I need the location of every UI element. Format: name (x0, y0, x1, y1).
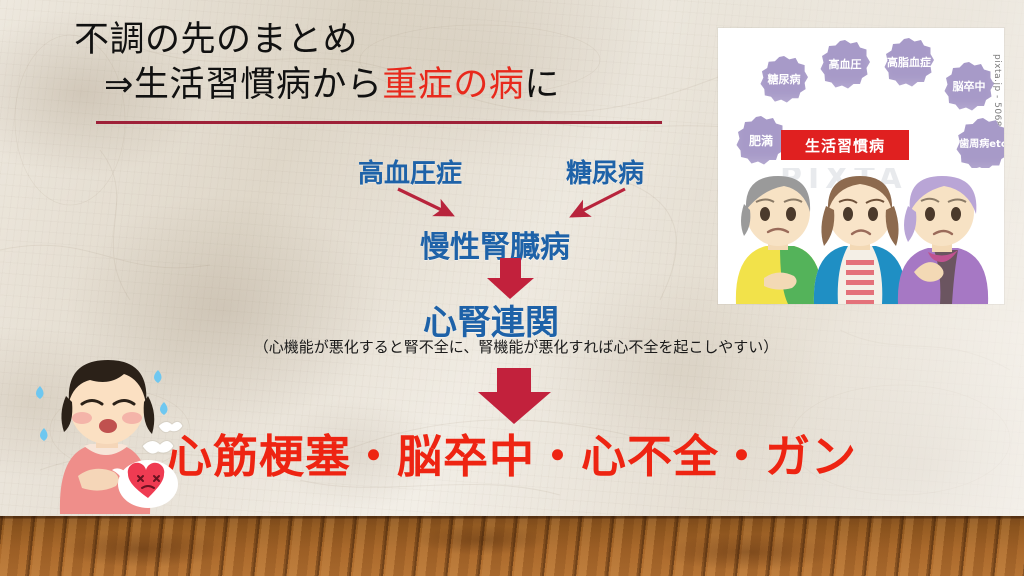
title-underline (96, 121, 662, 124)
woman-hair-side-r (144, 396, 155, 434)
flow-node-diabetes: 糖尿病 (566, 153, 644, 190)
lifestyle-disease-photo: pixta.jp - 50684607 PIXTA 糖尿病高血圧高脂血症脳卒中肥… (718, 28, 1004, 304)
title-line-1: 不調の先のまとめ (74, 18, 694, 63)
title-line-2-suffix: に (524, 65, 560, 105)
flow-node-ckd: 慢性腎臓病 (420, 222, 570, 266)
woman-blush-l (72, 412, 92, 424)
disease-bubble: 脳卒中 (944, 62, 994, 112)
three-elderly-people-illustration: PIXTA (718, 168, 1004, 304)
cardiorenal-note: （心機能が悪化すると腎不全に、腎機能が悪化すれば心不全を起こしやすい） (196, 336, 836, 357)
disease-bubble: 歯周病etc (956, 118, 1004, 172)
title-line-2-prefix: ⇒生活習慣病から (104, 65, 382, 105)
woman-hair-side-l (61, 396, 72, 432)
title-line-2-emphasis: 重症の病 (382, 65, 524, 105)
chest-pain-woman-illustration (18, 352, 198, 516)
page-title: 不調の先のまとめ ⇒生活習慣病から重症の病に (74, 18, 694, 108)
disease-bubble: 肥満 (736, 116, 786, 166)
flow-node-hypertension: 高血圧症 (358, 153, 462, 190)
title-line-2: ⇒生活習慣病から重症の病に (74, 63, 694, 108)
disease-bubble: 高脂血症 (884, 38, 934, 88)
woman-mouth (99, 419, 117, 433)
wooden-floor (0, 516, 1024, 576)
disease-bubble: 高血圧 (820, 40, 870, 90)
disease-bubble: 糖尿病 (760, 56, 808, 104)
lifestyle-disease-center-label: 生活習慣病 (781, 130, 909, 160)
slide-canvas: 不調の先のまとめ ⇒生活習慣病から重症の病に 高血圧症 糖尿病 慢性腎臓病 心腎… (0, 0, 1024, 576)
woman-blush-r (122, 412, 142, 424)
